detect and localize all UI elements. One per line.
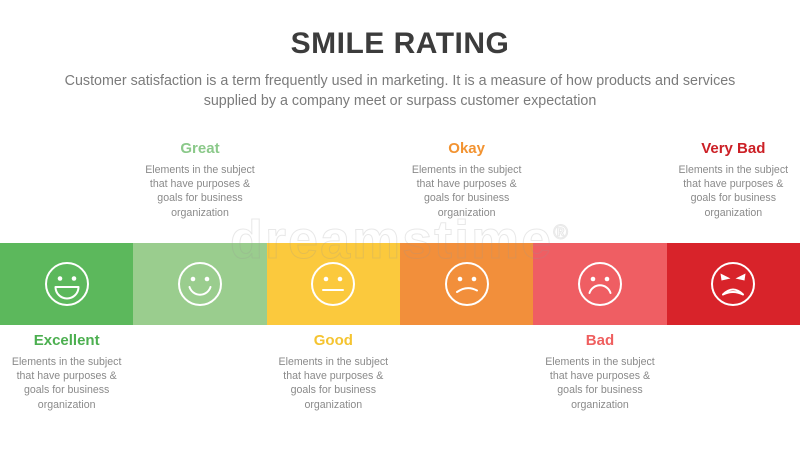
callout-desc-bad: Elements in the subject that have purpos… (537, 355, 662, 412)
neutral-face-icon (308, 259, 358, 309)
rating-band-bad[interactable] (533, 243, 666, 325)
sad-face-icon (575, 259, 625, 309)
callout-title-good: Good (271, 332, 396, 350)
callout-excellent: Excellent Elements in the subject that h… (0, 332, 133, 412)
callout-very-bad: Very Bad Elements in the subject that ha… (667, 140, 800, 220)
callout-title-very-bad: Very Bad (671, 140, 796, 158)
rating-color-strip (0, 243, 800, 325)
slightly-sad-face-icon (442, 259, 492, 309)
page-subtitle: Customer satisfaction is a term frequent… (55, 71, 745, 111)
callout-bad: Bad Elements in the subject that have pu… (533, 332, 666, 412)
callout-good: Good Elements in the subject that have p… (267, 332, 400, 412)
callout-title-bad: Bad (537, 332, 662, 350)
callout-great: Great Elements in the subject that have … (133, 140, 266, 220)
top-callout-row: Great Elements in the subject that have … (0, 140, 800, 220)
callout-title-excellent: Excellent (4, 332, 129, 350)
bottom-callout-row: Excellent Elements in the subject that h… (0, 332, 800, 412)
rating-band-great[interactable] (133, 243, 266, 325)
callout-desc-good: Elements in the subject that have purpos… (271, 355, 396, 412)
rating-band-okay[interactable] (400, 243, 533, 325)
smile-rating-infographic: SMILE RATING Customer satisfaction is a … (0, 0, 800, 450)
callout-title-great: Great (137, 140, 262, 158)
callout-desc-very-bad: Elements in the subject that have purpos… (671, 163, 796, 220)
happy-face-icon (175, 259, 225, 309)
angry-face-icon (708, 259, 758, 309)
callout-desc-excellent: Elements in the subject that have purpos… (4, 355, 129, 412)
callout-desc-great: Elements in the subject that have purpos… (137, 163, 262, 220)
header: SMILE RATING Customer satisfaction is a … (0, 26, 800, 111)
callout-okay: Okay Elements in the subject that have p… (400, 140, 533, 220)
rating-band-excellent[interactable] (0, 243, 133, 325)
watermark-registered-mark: ® (553, 222, 570, 244)
callout-desc-okay: Elements in the subject that have purpos… (404, 163, 529, 220)
rating-band-good[interactable] (267, 243, 400, 325)
page-title: SMILE RATING (0, 26, 800, 62)
very-happy-face-icon (42, 259, 92, 309)
callout-title-okay: Okay (404, 140, 529, 158)
rating-band-very-bad[interactable] (667, 243, 800, 325)
